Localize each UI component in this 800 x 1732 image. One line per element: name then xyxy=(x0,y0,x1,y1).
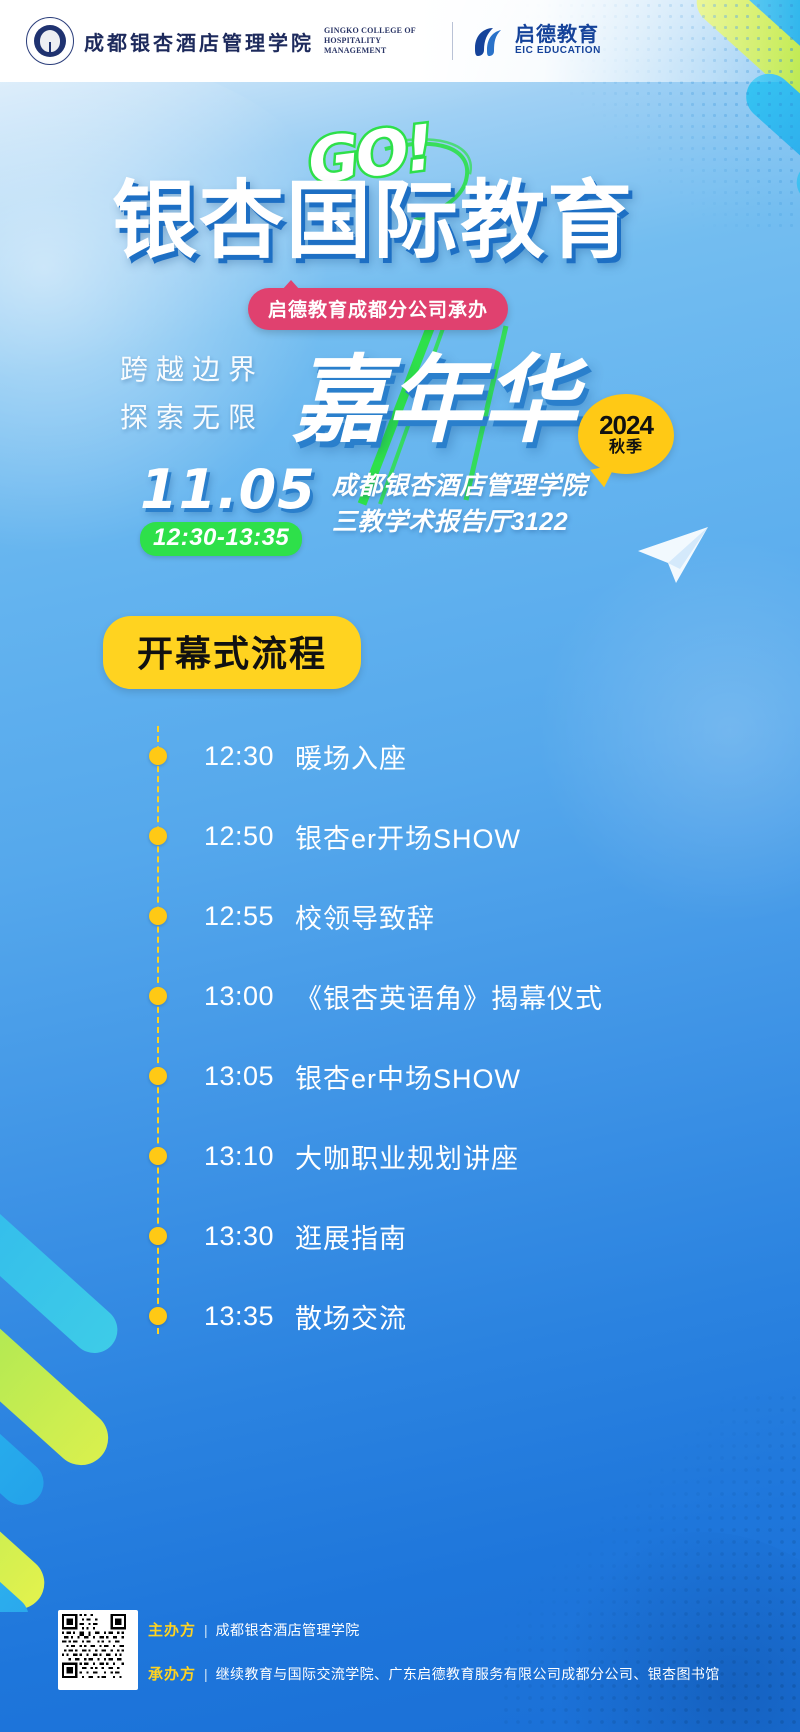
schedule-item-time: 13:30 xyxy=(204,1221,274,1252)
cohost-separator: | xyxy=(204,1666,208,1682)
partner-name-en: EIC EDUCATION xyxy=(515,45,601,57)
event-venue-line1: 成都银杏酒店管理学院 xyxy=(332,468,587,504)
season-badge: 2024 秋季 xyxy=(578,394,674,474)
poster-header: 成都银杏酒店管理学院 GINGKO COLLEGE OF HOSPITALITY… xyxy=(0,0,800,82)
timeline-dot-icon xyxy=(149,1307,167,1325)
timeline-dot-icon xyxy=(149,1227,167,1245)
event-venue: 成都银杏酒店管理学院 三教学术报告厅3122 xyxy=(332,468,587,540)
cohost-row: 承办方 | 继续教育与国际交流学院、广东启德教育服务有限公司成都分公司、银杏图书… xyxy=(148,1663,720,1684)
schedule-item: 12:50 银杏er开场SHOW xyxy=(120,796,740,876)
organizer-ribbon: 启德教育成都分公司承办 xyxy=(248,288,508,330)
poster-root: 成都银杏酒店管理学院 GINGKO COLLEGE OF HOSPITALITY… xyxy=(0,0,800,1732)
schedule-item: 13:00 《银杏英语角》揭幕仪式 xyxy=(120,956,740,1036)
partner-logo-group: 启德教育 EIC EDUCATION xyxy=(471,24,601,58)
cohost-value: 继续教育与国际交流学院、广东启德教育服务有限公司成都分公司、银杏图书馆 xyxy=(216,1664,720,1684)
timeline-dot-icon xyxy=(149,1147,167,1165)
schedule-item-label: 《银杏英语角》揭幕仪式 xyxy=(295,977,603,1016)
schedule-item: 12:30 暖场入座 xyxy=(120,716,740,796)
event-date-block: 11.05 12:30-13:35 xyxy=(140,462,316,556)
hero-subtitle-line2: 探索无限 xyxy=(120,394,264,442)
schedule-item-label: 银杏er开场SHOW xyxy=(295,817,521,856)
gingko-seal-icon xyxy=(26,17,74,65)
schedule-item: 12:55 校领导致辞 xyxy=(120,876,740,956)
paper-plane-icon xyxy=(636,525,710,585)
schedule-item-time: 13:00 xyxy=(204,981,274,1012)
timeline-dot-icon xyxy=(149,747,167,765)
badge-year: 2024 xyxy=(599,411,653,439)
poster-footer: 主办方 | 成都银杏酒店管理学院 承办方 | 继续教育与国际交流学院、广东启德教… xyxy=(0,1582,800,1732)
carnival-title: 嘉年华 xyxy=(292,324,577,461)
header-divider xyxy=(452,22,453,60)
schedule-item-time: 12:50 xyxy=(204,821,274,852)
event-time-badge: 12:30-13:35 xyxy=(140,522,302,556)
hero-title-block: GO! 银杏国际教育 嘉年华 启德教育成都分公司承办 跨越边界 探索无限 202… xyxy=(0,118,800,458)
school-name-cn: 成都银杏酒店管理学院 xyxy=(84,27,314,56)
event-date: 11.05 xyxy=(140,462,316,518)
partner-name-cn: 启德教育 xyxy=(515,25,601,45)
eic-logo-icon xyxy=(471,24,507,58)
timeline-dot-icon xyxy=(149,1067,167,1085)
schedule-item-label: 逛展指南 xyxy=(295,1217,407,1256)
schedule-item-time: 13:05 xyxy=(204,1061,274,1092)
schedule-heading: 开幕式流程 xyxy=(103,616,361,689)
school-logo-group: 成都银杏酒店管理学院 GINGKO COLLEGE OF HOSPITALITY… xyxy=(0,17,432,65)
timeline-dot-icon xyxy=(149,827,167,845)
schedule-item-label: 暖场入座 xyxy=(295,737,407,776)
schedule-timeline: 12:30 暖场入座 12:50 银杏er开场SHOW 12:55 校领导致辞 … xyxy=(120,716,740,1356)
qr-code-icon[interactable] xyxy=(58,1610,138,1690)
hero-subtitle: 跨越边界 探索无限 xyxy=(120,346,264,442)
schedule-item: 13:35 散场交流 xyxy=(120,1276,740,1356)
school-name-en: GINGKO COLLEGE OF HOSPITALITY MANAGEMENT xyxy=(324,26,432,56)
schedule-item: 13:30 逛展指南 xyxy=(120,1196,740,1276)
event-venue-line2: 三教学术报告厅3122 xyxy=(332,504,587,540)
schedule-item-time: 12:30 xyxy=(204,741,274,772)
schedule-item-label: 散场交流 xyxy=(295,1297,407,1336)
host-row: 主办方 | 成都银杏酒店管理学院 xyxy=(148,1619,360,1640)
badge-season: 秋季 xyxy=(609,439,643,457)
cohost-label: 承办方 xyxy=(148,1663,196,1684)
page-title: 银杏国际教育 xyxy=(112,176,732,268)
schedule-item-time: 13:35 xyxy=(204,1301,274,1332)
schedule-item-label: 银杏er中场SHOW xyxy=(295,1057,521,1096)
schedule-item-label: 校领导致辞 xyxy=(295,897,435,936)
schedule-item-time: 13:10 xyxy=(204,1141,274,1172)
schedule-item: 13:10 大咖职业规划讲座 xyxy=(120,1116,740,1196)
schedule-item: 13:05 银杏er中场SHOW xyxy=(120,1036,740,1116)
timeline-dot-icon xyxy=(149,907,167,925)
schedule-item-time: 12:55 xyxy=(204,901,274,932)
host-value: 成都银杏酒店管理学院 xyxy=(216,1620,360,1640)
hero-subtitle-line1: 跨越边界 xyxy=(120,346,264,394)
timeline-dot-icon xyxy=(149,987,167,1005)
host-separator: | xyxy=(204,1622,208,1638)
host-label: 主办方 xyxy=(148,1619,196,1640)
schedule-item-label: 大咖职业规划讲座 xyxy=(295,1137,519,1176)
